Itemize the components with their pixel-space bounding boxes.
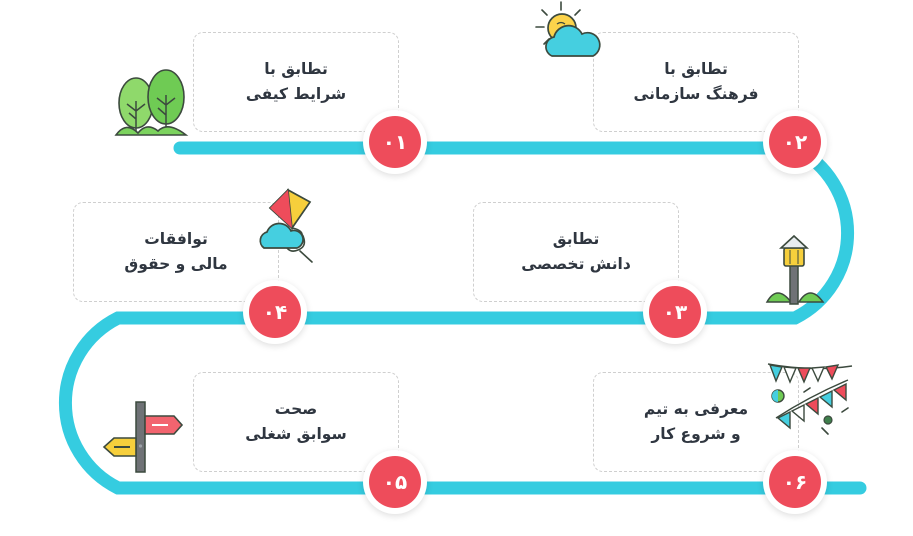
step-badge-2[interactable]: ۰۲ (763, 110, 827, 174)
step-number-1: ۰۱ (369, 116, 421, 168)
step-card-1[interactable]: تطابق با شرایط کیفی (193, 32, 399, 132)
step-card-5[interactable]: صحت سوابق شغلی (193, 372, 399, 472)
step-label-2: تطابق با فرهنگ سازمانی (619, 57, 772, 107)
signpost-icon (100, 398, 184, 474)
step-number-4: ۰۴ (249, 286, 301, 338)
step-label-4: توافقات مالی و حقوق (110, 227, 241, 277)
step-badge-5[interactable]: ۰۵ (363, 450, 427, 514)
trees-icon (110, 55, 192, 145)
step-label-6: معرفی به تیم و شروع کار (630, 397, 762, 447)
step-badge-3[interactable]: ۰۳ (643, 280, 707, 344)
bunting-icon (758, 356, 856, 442)
step-number-3: ۰۳ (649, 286, 701, 338)
step-card-3[interactable]: تطابق دانش تخصصی (473, 202, 679, 302)
step-label-1: تطابق با شرایط کیفی (232, 57, 360, 107)
step-number-6: ۰۶ (769, 456, 821, 508)
step-number-5: ۰۵ (369, 456, 421, 508)
sun-cloud-icon (524, 0, 624, 66)
step-badge-1[interactable]: ۰۱ (363, 110, 427, 174)
step-label-3: تطابق دانش تخصصی (507, 227, 645, 277)
diagram-canvas: تطابق با شرایط کیفی ۰۱ تطابق با فرهنگ سا… (0, 0, 913, 536)
kite-cloud-icon (252, 186, 338, 272)
step-number-2: ۰۲ (769, 116, 821, 168)
step-label-5: صحت سوابق شغلی (231, 397, 360, 447)
step-badge-6[interactable]: ۰۶ (763, 450, 827, 514)
step-card-4[interactable]: توافقات مالی و حقوق (73, 202, 279, 302)
street-lamp-icon (755, 232, 833, 310)
step-badge-4[interactable]: ۰۴ (243, 280, 307, 344)
